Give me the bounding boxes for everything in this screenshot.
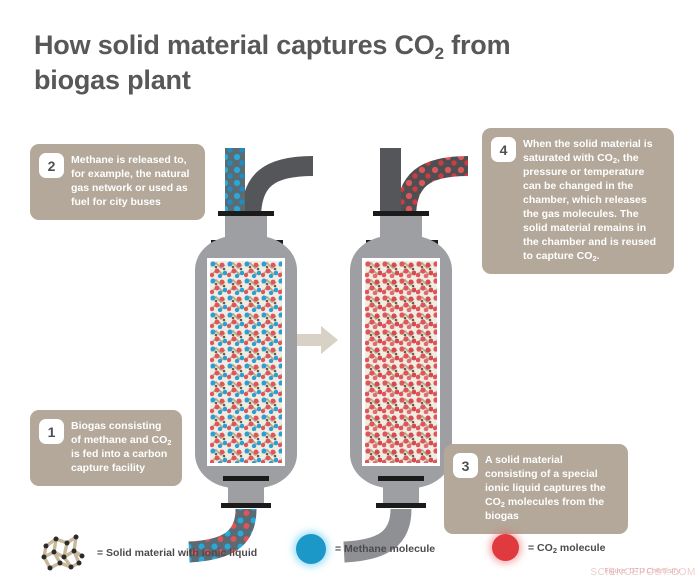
legend-item-co2: = CO2 molecule (492, 534, 605, 561)
callout-4-badge: 4 (491, 137, 516, 162)
left-vessel-body (195, 236, 297, 488)
callout-solid-material-captures[interactable]: 3 A solid material consisting of a speci… (444, 444, 628, 534)
title-line1-post: from (444, 30, 511, 60)
methane-molecule-dot-icon (296, 534, 326, 564)
callout-4-text-part-3: . (597, 250, 600, 262)
title-line1-pre: How solid material captures CO (34, 30, 435, 60)
right-vessel-contents-co2-saturated (365, 261, 440, 466)
right-vessel-body (350, 236, 452, 488)
watermark: SCIENCEPOST.COM Figure: DTU Chemistry (590, 567, 696, 578)
callout-4-text-part-2: , the pressure or temperature can be cha… (523, 152, 656, 262)
left-vessel-bottom-flange-lower (221, 503, 271, 508)
legend-item-solid-material: = Solid material with ionic liquid (38, 530, 257, 576)
solid-material-molecule-icon (38, 530, 88, 576)
legend-label-solid-material: = Solid material with ionic liquid (97, 547, 257, 559)
right-vessel-bottom-flange-upper (378, 476, 424, 481)
title-subscript-2: 2 (435, 44, 444, 63)
legend-co2-sub: 2 (553, 546, 557, 555)
watermark-overlay: Figure: DTU Chemistry (604, 568, 680, 575)
page-title: How solid material captures CO2 from bio… (34, 28, 634, 97)
legend-item-methane: = Methane molecule (296, 534, 435, 564)
callout-1-badge: 1 (39, 419, 64, 444)
callout-1-text: Biogas consisting of methane and CO2 is … (71, 419, 172, 476)
right-vessel-bottom-flange-lower (376, 503, 426, 508)
callout-1-text-part-1: Biogas consisting of methane and CO (71, 420, 167, 446)
callout-4-sub-1: 2 (613, 156, 617, 165)
callout-2-text-part: Methane is released to, for example, the… (71, 154, 189, 208)
legend-label-methane: = Methane molecule (335, 543, 435, 555)
infographic-canvas: How solid material captures CO2 from bio… (0, 0, 700, 584)
title-line2: biogas plant (34, 65, 191, 95)
callout-3-badge: 3 (453, 453, 478, 478)
callout-regeneration[interactable]: 4 When the solid material is saturated w… (482, 128, 674, 274)
callout-3-text: A solid material consisting of a special… (485, 453, 618, 524)
co2-molecule-dot-icon (492, 534, 519, 561)
legend-methane-text: = Methane molecule (335, 543, 435, 555)
left-vessel-top-flange-upper (218, 211, 274, 216)
right-vessel-window (362, 258, 440, 466)
left-vessel-window (207, 258, 285, 466)
left-vessel-bottom-flange-upper (223, 476, 269, 481)
callout-biogas-input[interactable]: 1 Biogas consisting of methane and CO2 i… (30, 410, 182, 486)
left-vessel-contents-mixed (210, 261, 285, 466)
callout-4-text: When the solid material is saturated wit… (523, 137, 664, 264)
callout-1-sub-1: 2 (167, 438, 171, 447)
legend-label-co2: = CO2 molecule (528, 542, 605, 554)
legend-co2-text-1: = CO (528, 542, 553, 554)
legend-co2-text-2: molecule (557, 542, 605, 554)
callout-1-text-part-2: is fed into a carbon capture facility (71, 448, 167, 474)
left-vessel-bottom-neck (228, 478, 264, 506)
callout-methane-released[interactable]: 2 Methane is released to, for example, t… (30, 144, 205, 220)
callout-4-sub-2: 2 (592, 254, 596, 263)
legend-solid-text: = Solid material with ionic liquid (97, 547, 257, 559)
callout-2-badge: 2 (39, 153, 64, 178)
process-flow-arrow (297, 324, 339, 356)
callout-3-sub-1: 2 (501, 500, 505, 509)
right-vessel-bottom-neck (383, 478, 419, 506)
callout-2-text: Methane is released to, for example, the… (71, 153, 195, 210)
right-vessel-top-flange-upper (373, 211, 429, 216)
